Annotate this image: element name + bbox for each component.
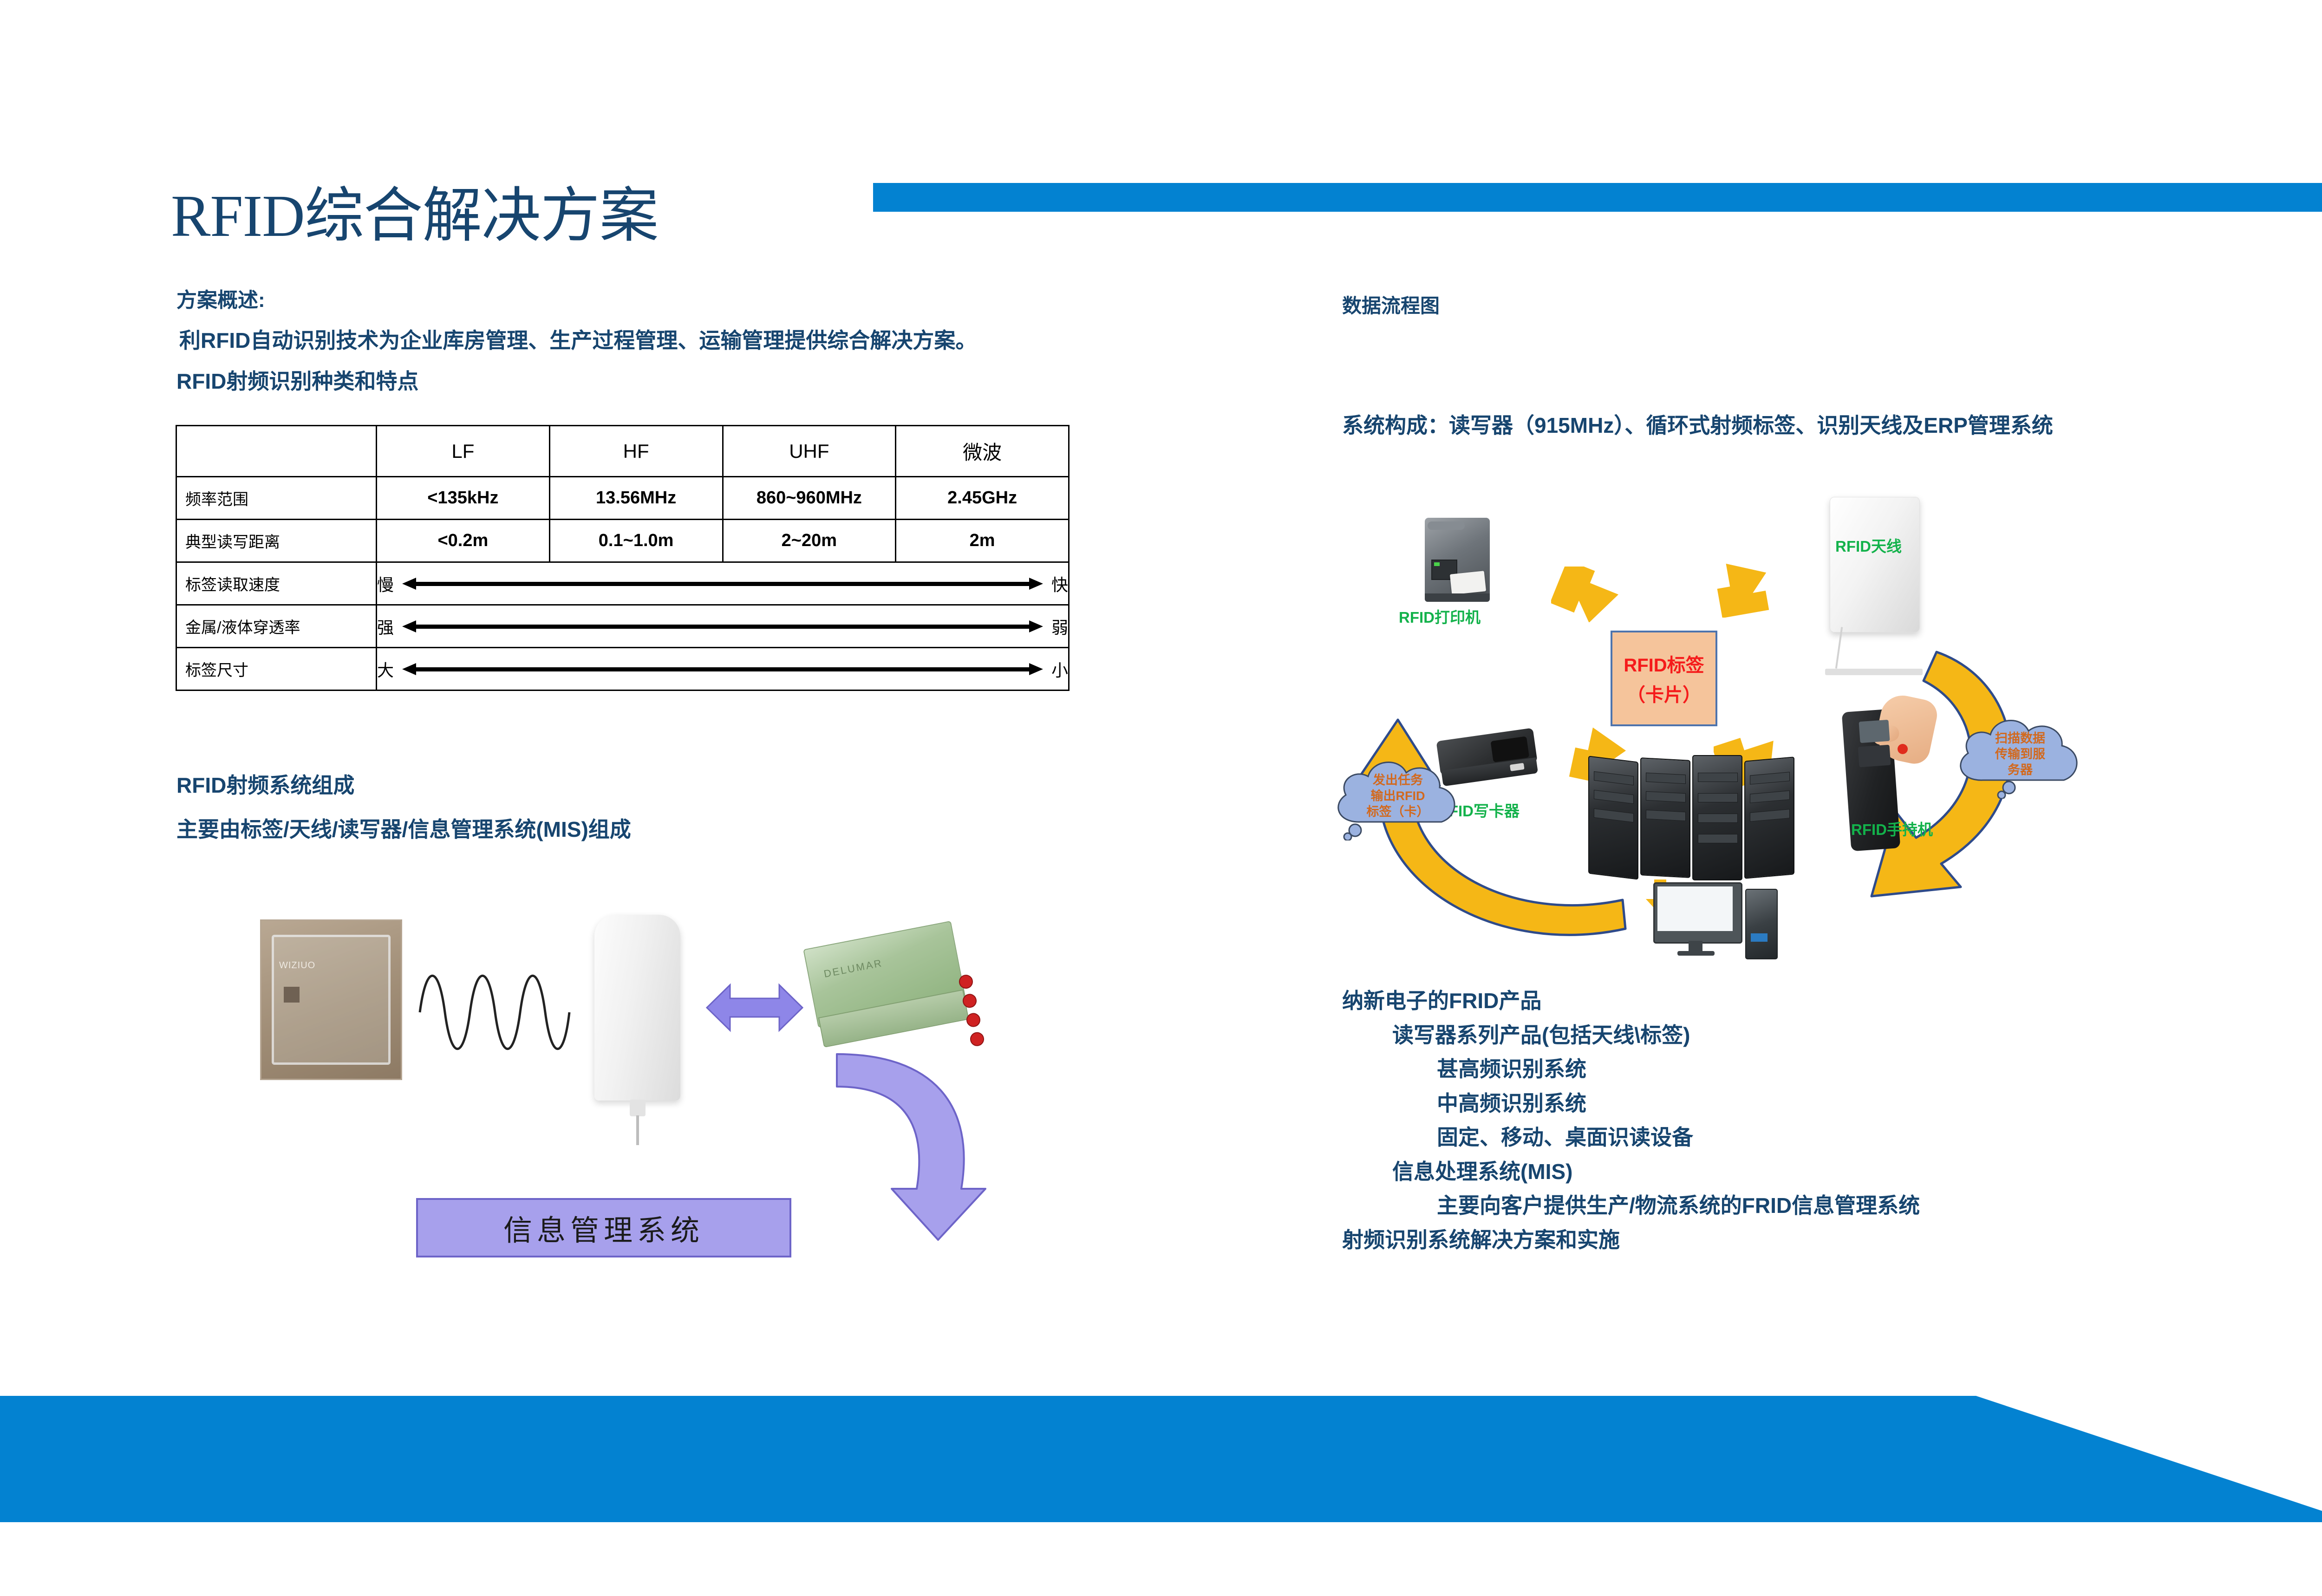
mis-box-label: 信息管理系统 <box>503 1207 704 1249</box>
row-header-readspeed: 标签读取速度 <box>176 562 377 605</box>
types-label: RFID射频识别种类和特点 <box>176 365 418 395</box>
table-corner-cell <box>176 426 377 477</box>
tagbox-line1: RFID标签 <box>1624 650 1704 677</box>
list-item: 纳新电子的FRID产品 <box>1342 989 2085 1013</box>
cell-freq-uhf: 860~960MHz <box>723 477 896 520</box>
antenna-base-plate <box>1825 669 1923 675</box>
table-row: 频率范围 <135kHz 13.56MHz 860~960MHz 2.45GHz <box>176 477 1069 520</box>
cloud-right: 扫描数据 传输到服 务器 <box>1950 710 2090 799</box>
scale-left-penetration: 强 <box>377 614 394 638</box>
slide-canvas: RFID综合解决方案 方案概述: 利RFID自动识别技术为企业库房管理、生产过程… <box>0 0 2322 1596</box>
list-item: 射频识别系统解决方案和实施 <box>1342 1228 2085 1252</box>
row-header-penetration: 金属/液体穿透率 <box>176 605 377 648</box>
scale-cell-readspeed: 慢 快 <box>377 562 1069 605</box>
list-item: 甚高频识别系统 <box>1437 1057 2085 1081</box>
scale-cell-tagsize: 大 小 <box>377 648 1069 691</box>
scale-right-readspeed: 快 <box>1051 572 1068 596</box>
list-item: 固定、移动、桌面识读设备 <box>1437 1126 2085 1150</box>
handheld-label: RFID手持机 <box>1851 817 1933 840</box>
rfid-reader-photo: DELUMAR <box>803 919 980 1063</box>
table-header-row: LF HF UHF 微波 <box>176 426 1069 477</box>
table-row: 标签读取速度 慢 快 <box>176 562 1069 605</box>
mis-box: 信息管理系统 <box>416 1198 791 1257</box>
tag-chip <box>284 987 300 1003</box>
desktop-computer-photo <box>1653 882 1793 961</box>
row-header-distance: 典型读写距离 <box>176 520 377 562</box>
rfid-tag-center-box: RFID标签 （卡片） <box>1611 631 1717 726</box>
cell-freq-lf: <135kHz <box>377 477 550 520</box>
rfid-printer-photo <box>1425 518 1490 599</box>
top-decorative-banner <box>873 183 2322 212</box>
bidirectional-arrow-icon <box>402 578 1043 590</box>
cloud-right-line1: 扫描数据 <box>1995 731 2045 746</box>
cell-dist-micro: 2m <box>896 520 1069 562</box>
overview-label: 方案概述: <box>176 283 265 313</box>
product-list: 纳新电子的FRID产品 读写器系列产品(包括天线\标签) 甚高频识别系统 中高频… <box>1342 989 2085 1262</box>
col-header-uhf: UHF <box>723 426 896 477</box>
cloud-right-line2: 传输到服 <box>1995 747 2045 762</box>
list-item: 中高频识别系统 <box>1437 1092 2085 1116</box>
scale-cell-penetration: 强 弱 <box>377 605 1069 648</box>
bidirectional-arrow-icon <box>402 620 1043 632</box>
row-header-tagsize: 标签尺寸 <box>176 648 377 691</box>
cell-dist-hf: 0.1~1.0m <box>549 520 723 562</box>
rfid-system-illustration: WIZIUO DELUMAR 信息管理系统 <box>223 873 1059 1291</box>
rfid-antenna-panel-photo <box>1830 497 1920 632</box>
page-title: RFID综合解决方案 <box>171 185 659 247</box>
cloud-left-line3: 标签（卡） <box>1367 805 1429 820</box>
cloud-left-line1: 发出任务 <box>1373 773 1423 788</box>
overview-body: 利RFID自动识别技术为企业库房管理、生产过程管理、运输管理提供综合解决方案。 <box>179 324 977 354</box>
reader-brand-text: DELUMAR <box>823 957 884 980</box>
scale-left-tagsize: 大 <box>377 657 394 681</box>
col-header-hf: HF <box>549 426 723 477</box>
rfid-comparison-table: LF HF UHF 微波 频率范围 <135kHz 13.56MHz 860~9… <box>176 425 1070 691</box>
cloud-left-line2: 输出RFID <box>1371 789 1425 804</box>
rfid-tag-photo: WIZIUO <box>260 919 402 1080</box>
system-composition-label: 系统构成：读写器（915MHz）、循环式射频标签、识别天线及ERP管理系统 <box>1342 409 2053 439</box>
composition-body: 主要由标签/天线/读写器/信息管理系统(MIS)组成 <box>176 813 631 843</box>
row-header-freq: 频率范围 <box>176 477 377 520</box>
bidirectional-arrow-icon <box>402 663 1043 675</box>
scale-right-penetration: 弱 <box>1051 614 1068 638</box>
antenna-label: RFID天线 <box>1835 534 1902 556</box>
col-header-micro: 微波 <box>896 426 1069 477</box>
printer-label: RFID打印机 <box>1399 605 1481 627</box>
cloud-right-line3: 务器 <box>2008 763 2033 778</box>
bottom-decorative-banner <box>0 1396 2322 1522</box>
dataflow-label: 数据流程图 <box>1342 290 1440 319</box>
list-item: 读写器系列产品(包括天线\标签) <box>1392 1023 2085 1048</box>
table-row: 金属/液体穿透率 强 弱 <box>176 605 1069 648</box>
list-item: 主要向客户提供生产/物流系统的FRID信息管理系统 <box>1437 1194 2085 1218</box>
rfid-antenna-photo <box>594 915 680 1101</box>
server-rack-photo <box>1588 752 1793 882</box>
cell-freq-hf: 13.56MHz <box>549 477 723 520</box>
scale-right-tagsize: 小 <box>1051 657 1068 681</box>
curved-down-arrow-icon <box>822 1049 989 1244</box>
cell-freq-micro: 2.45GHz <box>896 477 1069 520</box>
composition-label: RFID射频系统组成 <box>176 769 354 799</box>
antenna-cable <box>636 1115 639 1145</box>
arrow-tag-to-antenna-icon <box>1709 557 1779 618</box>
tag-brand-text: WIZIUO <box>279 960 315 971</box>
arrow-printer-to-tag-icon <box>1551 567 1621 622</box>
table-row: 标签尺寸 大 小 <box>176 648 1069 691</box>
table-row: 典型读写距离 <0.2m 0.1~1.0m 2~20m 2m <box>176 520 1069 562</box>
col-header-lf: LF <box>377 426 550 477</box>
radio-wave-icon <box>418 959 571 1066</box>
scale-left-readspeed: 慢 <box>377 572 394 596</box>
rfid-dataflow-diagram: RFID打印机 RFID写卡器 RFID标签 （卡片） RFID天线 RFID手… <box>1347 474 2071 943</box>
antenna-foot <box>630 1100 646 1116</box>
cell-dist-uhf: 2~20m <box>723 520 896 562</box>
cloud-left: 发出任务 输出RFID 标签（卡） <box>1328 752 1468 840</box>
list-item: 信息处理系统(MIS) <box>1392 1160 2085 1184</box>
tagbox-line2: （卡片） <box>1627 680 1701 707</box>
double-arrow-icon <box>706 977 803 1038</box>
cell-dist-lf: <0.2m <box>377 520 550 562</box>
